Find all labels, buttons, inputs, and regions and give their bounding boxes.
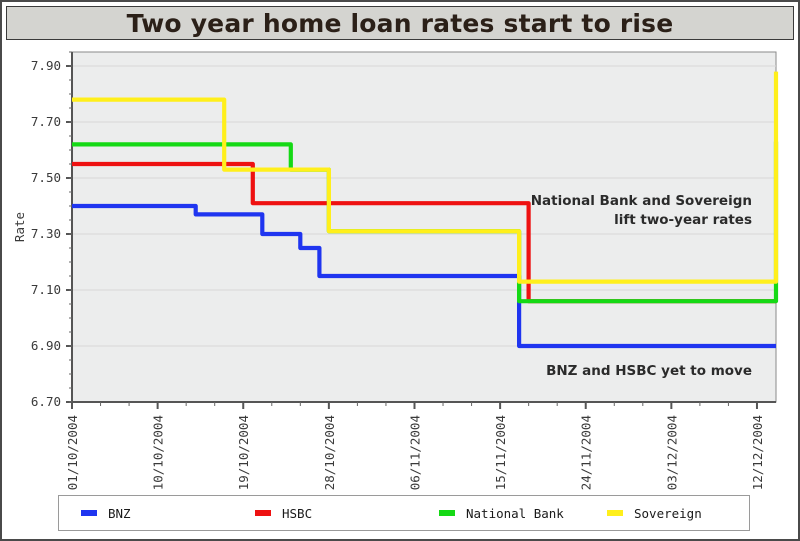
legend-swatch-icon — [607, 510, 623, 516]
x-tick-label: 06/11/2004 — [407, 415, 422, 490]
legend-label: HSBC — [282, 506, 312, 521]
y-tick-label: 7.30 — [31, 226, 61, 241]
x-tick-label: 12/12/2004 — [750, 415, 765, 490]
legend-label: BNZ — [108, 506, 131, 521]
national-bank-sovereign-note: National Bank and Sovereign — [531, 193, 752, 209]
x-tick-label: 19/10/2004 — [236, 415, 251, 490]
y-tick-label: 7.50 — [31, 170, 61, 185]
x-tick-label: 28/10/2004 — [322, 415, 337, 490]
legend-item-national-bank[interactable]: National Bank — [439, 506, 564, 521]
y-tick-label: 7.70 — [31, 114, 61, 129]
x-axis: 01/10/200410/10/200419/10/200428/10/2004… — [65, 402, 776, 490]
x-tick-label: 10/10/2004 — [151, 415, 166, 490]
legend-swatch-icon — [439, 510, 455, 516]
line-chart: 6.706.907.107.307.507.707.90Rate 01/10/2… — [6, 42, 794, 497]
x-tick-label: 01/10/2004 — [65, 415, 80, 490]
x-tick-label: 15/11/2004 — [493, 415, 508, 490]
chart-canvas: 6.706.907.107.307.507.707.90Rate 01/10/2… — [6, 42, 794, 497]
y-tick-label: 6.70 — [31, 394, 61, 409]
chart-window: Two year home loan rates start to rise 6… — [0, 0, 800, 541]
y-axis: 6.706.907.107.307.507.707.90Rate — [12, 52, 72, 409]
bnz-hsbc-note: BNZ and HSBC yet to move — [546, 363, 752, 379]
chart-legend: BNZHSBCNational BankSovereign — [58, 495, 750, 531]
y-tick-label: 7.90 — [31, 58, 61, 73]
national-bank-sovereign-note: lift two-year rates — [614, 212, 752, 228]
x-tick-label: 03/12/2004 — [664, 415, 679, 490]
legend-item-sovereign[interactable]: Sovereign — [607, 506, 702, 521]
x-tick-label: 24/11/2004 — [579, 415, 594, 490]
y-tick-label: 6.90 — [31, 338, 61, 353]
legend-swatch-icon — [255, 510, 271, 516]
legend-item-hsbc[interactable]: HSBC — [255, 506, 312, 521]
y-tick-label: 7.10 — [31, 282, 61, 297]
legend-label: National Bank — [466, 506, 564, 521]
page-title: Two year home loan rates start to rise — [127, 9, 674, 38]
y-axis-title: Rate — [12, 212, 27, 242]
legend-item-bnz[interactable]: BNZ — [81, 506, 131, 521]
legend-label: Sovereign — [634, 506, 702, 521]
legend-swatch-icon — [81, 510, 97, 516]
title-bar: Two year home loan rates start to rise — [6, 6, 794, 40]
